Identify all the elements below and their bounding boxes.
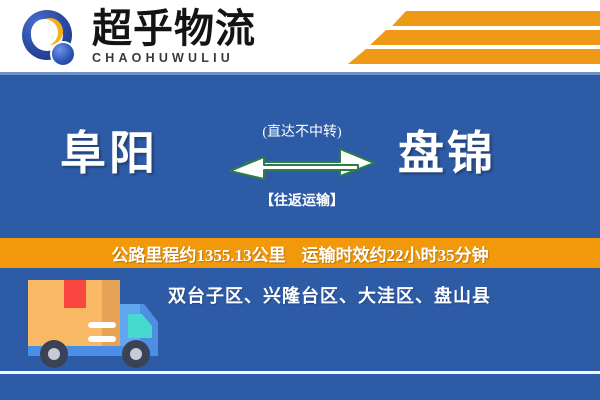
brand-name-pinyin: CHAOHUWULIU <box>92 51 262 65</box>
route-note-direct: (直达不中转) <box>242 121 362 141</box>
logo-crescent-cutout <box>31 19 58 46</box>
circle-q-crescent-logo-icon <box>22 10 78 66</box>
bidirectional-arrow-icon <box>228 145 376 181</box>
duration-label: 运输时效约22小时35分钟 <box>302 241 489 266</box>
origin-city-label: 阜阳 <box>60 128 158 180</box>
route-note-roundtrip: 【往返运输】 <box>238 190 366 210</box>
delivery-truck-icon <box>22 278 168 374</box>
brand-wordmark: 超乎物流 CHAOHUWULIU <box>92 8 262 65</box>
destination-city-label: 盘锦 <box>398 128 496 180</box>
header-bar: 超乎物流 CHAOHUWULIU <box>0 0 600 72</box>
speed-stripe-1 <box>392 11 600 26</box>
speed-stripe-2 <box>370 30 600 45</box>
brand-name-cn: 超乎物流 <box>92 8 262 50</box>
route-info-bar: 公路里程约1355.13公里 运输时效约22小时35分钟 <box>0 238 600 268</box>
speed-stripe-3 <box>348 49 600 64</box>
logistics-route-banner: 超乎物流 CHAOHUWULIU 阜阳 盘锦 (直达不中转) 【往返运输】 公路… <box>0 0 600 400</box>
logo-tail-dot <box>52 43 74 65</box>
distance-label: 公路里程约1355.13公里 <box>111 241 285 266</box>
coverage-areas-label: 双台子区、兴隆台区、大洼区、盘山县 <box>168 282 491 308</box>
ground-line <box>0 371 600 374</box>
